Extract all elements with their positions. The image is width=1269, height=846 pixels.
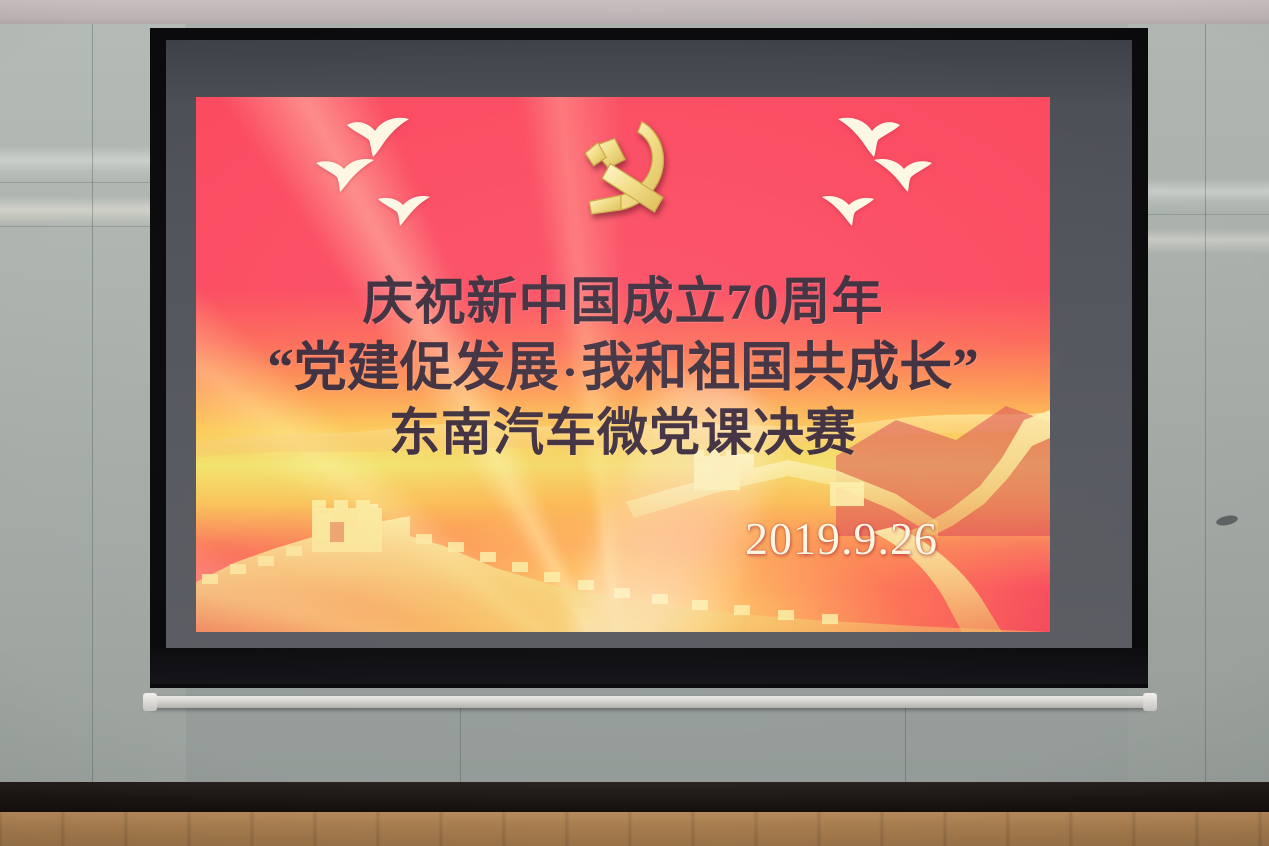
- baseboard: [0, 782, 1269, 816]
- headline-close-quote: ”: [952, 339, 979, 397]
- wall-panel-seam: [460, 700, 461, 784]
- cpc-emblem-icon: [560, 111, 686, 229]
- headline-open-quote: “: [267, 339, 294, 397]
- wall-panel-seam: [92, 24, 93, 784]
- wall-panel-seam: [1205, 24, 1206, 784]
- slide-headline: 庆祝新中国成立70周年 “党建促发展•我和祖国共成长” 东南汽车微党课决赛: [196, 273, 1050, 464]
- projection-screen-top-shade: [166, 40, 1132, 100]
- conference-room-scene: 庆祝新中国成立70周年 “党建促发展•我和祖国共成长” 东南汽车微党课决赛 20…: [0, 0, 1269, 846]
- screen-roller-cap-left: [143, 693, 157, 711]
- wall-panel-right: [1128, 24, 1269, 784]
- wall-seam-horizontal: [1128, 214, 1269, 215]
- headline-line-3: 东南汽车微党课决赛: [196, 404, 1050, 464]
- projection-screen-bottom-bar: [150, 648, 1148, 684]
- headline-line-2: “党建促发展•我和祖国共成长”: [196, 337, 1050, 400]
- headline-line-2-part-1: 党建促发展: [294, 339, 559, 397]
- headline-line-1: 庆祝新中国成立70周年: [196, 273, 1050, 333]
- slide-date: 2019.9.26: [745, 512, 938, 565]
- headline-separator-dot: •: [559, 356, 582, 389]
- floor: [0, 812, 1269, 846]
- headline-line-2-part-2: 我和祖国共成长: [581, 339, 952, 397]
- screen-roller-cap-right: [1143, 693, 1157, 711]
- wall-panel-seam: [905, 700, 906, 784]
- projected-slide: 庆祝新中国成立70周年 “党建促发展•我和祖国共成长” 东南汽车微党课决赛 20…: [196, 97, 1050, 632]
- screen-roller-bar[interactable]: [147, 696, 1151, 708]
